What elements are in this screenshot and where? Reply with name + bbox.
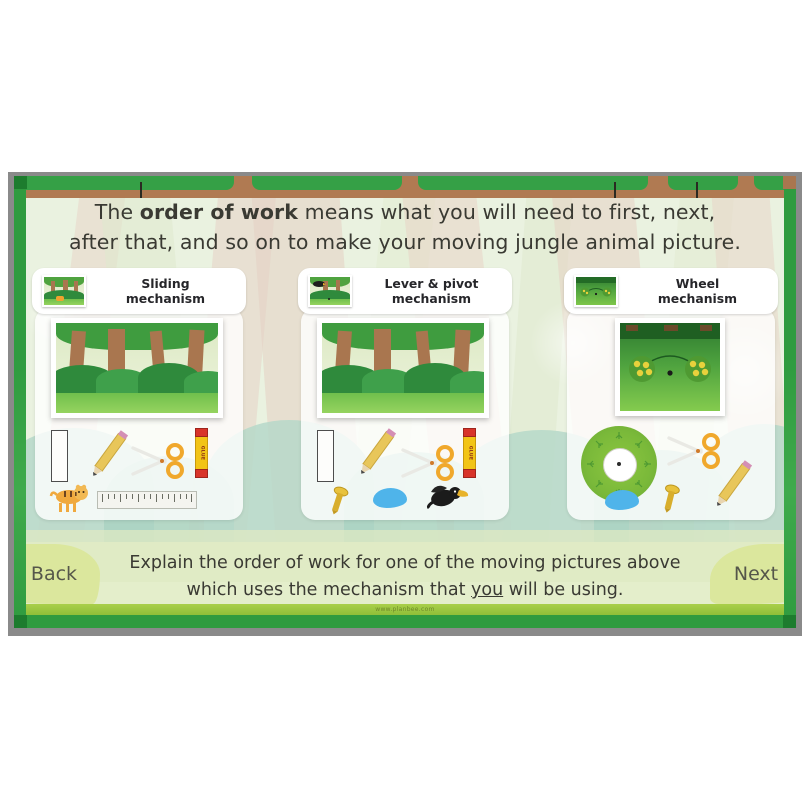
heading-line1-post: means what you will need to first, next, (298, 200, 715, 224)
tiger-icon (49, 484, 91, 514)
pencil-icon (707, 456, 759, 514)
jungle-scene-photo (317, 318, 489, 418)
prompt-line-2: which uses the mechanism that you will b… (28, 577, 782, 604)
glue-dot-icon (373, 488, 407, 508)
brand-url: www.planbee.com (375, 606, 434, 613)
heading-emphasis: order of work (140, 200, 298, 224)
screenshot-canvas: The order of work means what you will ne… (0, 0, 810, 810)
glue-stick-icon: GLUE (463, 428, 476, 478)
prompt-line2-pre: which uses the mechanism that (187, 580, 472, 600)
pencil-icon (351, 424, 403, 482)
scissors-icon (131, 442, 189, 480)
card-sliding-header[interactable]: Sliding mechanism (32, 268, 246, 314)
glue-dot-icon (605, 490, 639, 510)
back-button-label: Back (31, 563, 77, 585)
scissors-icon (401, 444, 459, 482)
glue-label: GLUE (199, 446, 204, 461)
card-lever-pivot-title: Lever & pivot mechanism (361, 276, 502, 306)
mechanism-cards: Sliding mechanism (28, 268, 782, 526)
card-lever-pivot-mechanism[interactable]: Lever & pivot mechanism (294, 268, 516, 526)
card-lever-pivot-header[interactable]: Lever & pivot mechanism (298, 268, 512, 314)
sliding-mechanism-thumbnail (42, 275, 86, 307)
card-wheel-title: Wheel mechanism (627, 276, 768, 306)
split-pin-icon (327, 486, 349, 516)
jungle-scene-photo (51, 318, 223, 418)
card-sliding-mechanism[interactable]: Sliding mechanism (28, 268, 250, 526)
card-strip-icon (317, 430, 334, 482)
card-strip-icon (51, 430, 68, 482)
split-pin-icon (659, 484, 681, 514)
brand-strip: www.planbee.com (26, 604, 784, 615)
card-sliding-body: GLUE (35, 308, 243, 520)
card-wheel-body (567, 308, 775, 520)
heading-line-2: after that, and so on to make your movin… (69, 227, 741, 257)
card-wheel-header[interactable]: Wheel mechanism (564, 268, 778, 314)
pencil-icon (83, 426, 135, 484)
lesson-slide: The order of work means what you will ne… (14, 176, 796, 628)
heading-line-1: The order of work means what you will ne… (95, 197, 716, 227)
canopy-band (14, 176, 796, 198)
glue-label: GLUE (467, 446, 472, 461)
wheel-mechanism-thumbnail (574, 275, 618, 307)
page-title: The order of work means what you will ne… (28, 192, 782, 262)
lever-pivot-mechanism-thumbnail (308, 275, 352, 307)
next-button-label: Next (734, 563, 778, 585)
glue-stick-icon: GLUE (195, 428, 208, 478)
toucan-icon (425, 480, 471, 512)
heading-line1-pre: The (95, 200, 140, 224)
jungle-wheel-scene-photo (615, 318, 725, 416)
back-button[interactable]: Back (14, 544, 100, 604)
prompt-line2-post: will be using. (503, 580, 623, 600)
card-wheel-mechanism[interactable]: Wheel mechanism (560, 268, 782, 526)
card-lever-pivot-body: GLUE (301, 308, 509, 520)
prompt-emphasis: you (471, 580, 503, 600)
card-sliding-title: Sliding mechanism (95, 276, 236, 306)
ruler-icon (97, 491, 197, 509)
prompt-line-1: Explain the order of work for one of the… (28, 550, 782, 577)
task-prompt: Explain the order of work for one of the… (28, 550, 782, 604)
